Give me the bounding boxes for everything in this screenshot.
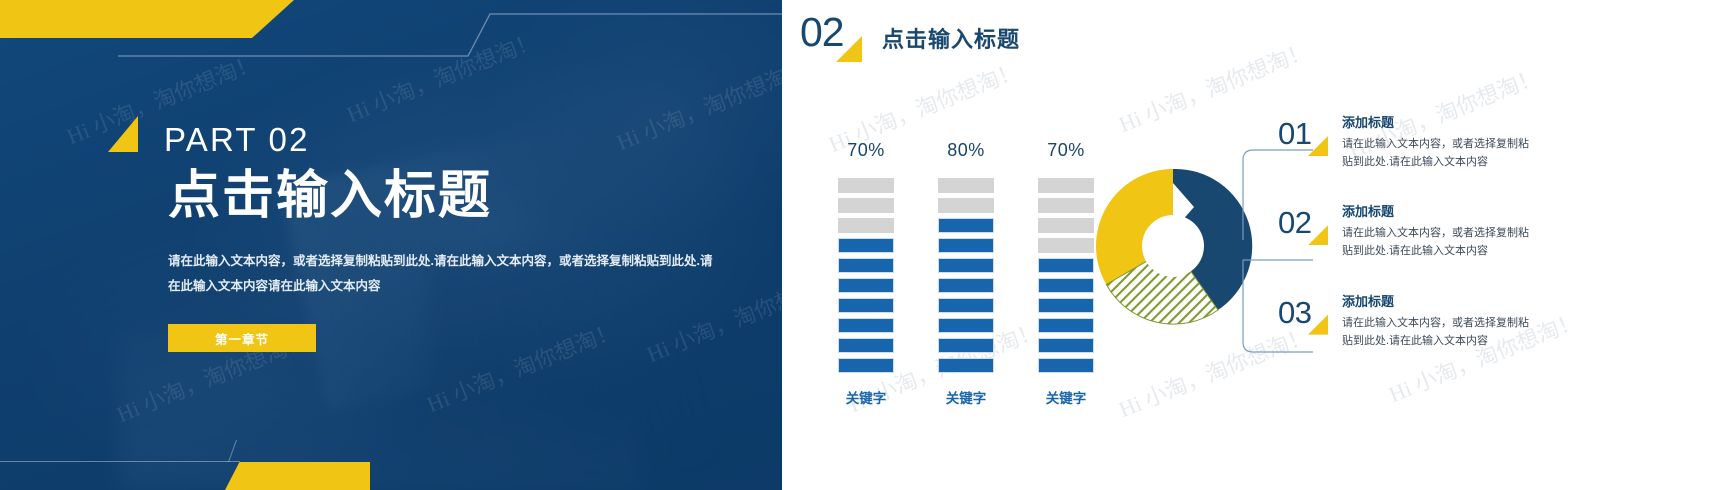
detail-text: 添加标题 请在此输入文本内容，或者选择复制粘贴到此处.请在此输入文本内容 [1342, 112, 1578, 171]
bar-segment-empty [938, 198, 994, 213]
bar-category-label: 关键字 [846, 387, 887, 407]
bar-segment-filled [838, 318, 894, 333]
bar-segment-filled [938, 298, 994, 313]
detail-body: 请在此输入文本内容，或者选择复制粘贴到此处.请在此输入文本内容 [1342, 224, 1534, 260]
bar-segment-filled [1038, 298, 1094, 313]
bar-segment-filled [838, 258, 894, 273]
detail-text: 添加标题 请在此输入文本内容，或者选择复制粘贴到此处.请在此输入文本内容 [1342, 201, 1578, 260]
bar-segment-filled [938, 318, 994, 333]
yellow-bottom-wedge [225, 462, 370, 490]
yellow-top-banner [0, 0, 294, 38]
detail-number: 02 [1278, 207, 1311, 238]
bottom-divider-line [0, 461, 240, 462]
section-header: 02 点击输入标题 [800, 14, 1020, 62]
yellow-triangle-icon [108, 116, 138, 152]
left-content: PART 02 点击输入标题 请在此输入文本内容，或者选择复制粘贴到此处.请在此… [168, 116, 728, 352]
bar-segment-filled [1038, 258, 1094, 273]
list-item[interactable]: 02 添加标题 请在此输入文本内容，或者选择复制粘贴到此处.请在此输入文本内容 [1278, 201, 1578, 260]
bar-segment-filled [938, 338, 994, 353]
bar-segment-empty [1038, 178, 1094, 193]
detail-title: 添加标题 [1342, 112, 1578, 131]
bar-segment-filled [938, 218, 994, 233]
bar-segments [838, 178, 894, 373]
bar-segments [938, 178, 994, 373]
bar-segment-empty [838, 198, 894, 213]
bar-segment-filled [838, 338, 894, 353]
bar-segments [1038, 178, 1094, 373]
donut-hole [1142, 215, 1204, 277]
bar-segment-filled [938, 358, 994, 373]
left-body-text: 请在此输入文本内容，或者选择复制粘贴到此处.请在此输入文本内容，或者选择复制粘贴… [168, 249, 718, 298]
detail-number: 01 [1278, 118, 1311, 149]
bar-segment-filled [1038, 338, 1094, 353]
bar-value-label: 70% [1047, 140, 1085, 161]
bar-segment-filled [838, 358, 894, 373]
section-title: 点击输入标题 [882, 22, 1020, 54]
bar-segment-filled [838, 298, 894, 313]
section-number: 02 [800, 12, 844, 53]
bar-segment-filled [938, 258, 994, 273]
detail-body: 请在此输入文本内容，或者选择复制粘贴到此处.请在此输入文本内容 [1342, 135, 1534, 171]
detail-body: 请在此输入文本内容，或者选择复制粘贴到此处.请在此输入文本内容 [1342, 314, 1534, 350]
bar-value-label: 80% [947, 140, 985, 161]
bar-category-label: 关键字 [946, 387, 987, 407]
detail-number-wrap: 03 [1278, 291, 1340, 339]
detail-title: 添加标题 [1342, 291, 1578, 310]
bar-segment-empty [838, 218, 894, 233]
detail-title: 添加标题 [1342, 201, 1578, 220]
section-number-wrap: 02 [800, 14, 868, 62]
chapter-button[interactable]: 第一章节 [168, 324, 316, 352]
bar-segment-filled [938, 238, 994, 253]
part-row: PART 02 [108, 116, 728, 156]
bar-segment-filled [838, 238, 894, 253]
bar-segment-empty [838, 178, 894, 193]
detail-number-wrap: 02 [1278, 201, 1340, 249]
bar-segment-filled [1038, 358, 1094, 373]
bar-value-label: 70% [847, 140, 885, 161]
bar-segment-filled [838, 278, 894, 293]
list-item[interactable]: 03 添加标题 请在此输入文本内容，或者选择复制粘贴到此处.请在此输入文本内容 [1278, 291, 1578, 350]
page-title: 点击输入标题 [168, 166, 728, 227]
detail-text: 添加标题 请在此输入文本内容，或者选择复制粘贴到此处.请在此输入文本内容 [1342, 291, 1578, 350]
bar-segment-empty [1038, 218, 1094, 233]
detail-number: 03 [1278, 297, 1311, 328]
left-title-panel: Hi 小淘，淘你想淘！ Hi 小淘，淘你想淘！ Hi 小淘，淘你想淘！ Hi 小… [0, 0, 782, 490]
bar-segment-empty [938, 178, 994, 193]
bar-segment-filled [938, 278, 994, 293]
slide: Hi 小淘，淘你想淘！ Hi 小淘，淘你想淘！ Hi 小淘，淘你想淘！ Hi 小… [0, 0, 1720, 490]
detail-number-wrap: 01 [1278, 112, 1340, 160]
bar-segment-filled [1038, 278, 1094, 293]
bar-segment-empty [1038, 238, 1094, 253]
bar-column: 70% 关键字 [1038, 140, 1094, 407]
list-item[interactable]: 01 添加标题 请在此输入文本内容，或者选择复制粘贴到此处.请在此输入文本内容 [1278, 112, 1578, 171]
bar-category-label: 关键字 [1046, 387, 1087, 407]
bar-column: 80% 关键字 [938, 140, 994, 407]
bar-segment-filled [1038, 318, 1094, 333]
bar-column: 70% 关键字 [838, 140, 894, 407]
detail-list: 01 添加标题 请在此输入文本内容，或者选择复制粘贴到此处.请在此输入文本内容 … [1278, 112, 1578, 380]
segmented-bar-chart: 70% 关键字 80% [838, 140, 1094, 407]
bar-segment-empty [1038, 198, 1094, 213]
part-label: PART 02 [164, 123, 310, 156]
